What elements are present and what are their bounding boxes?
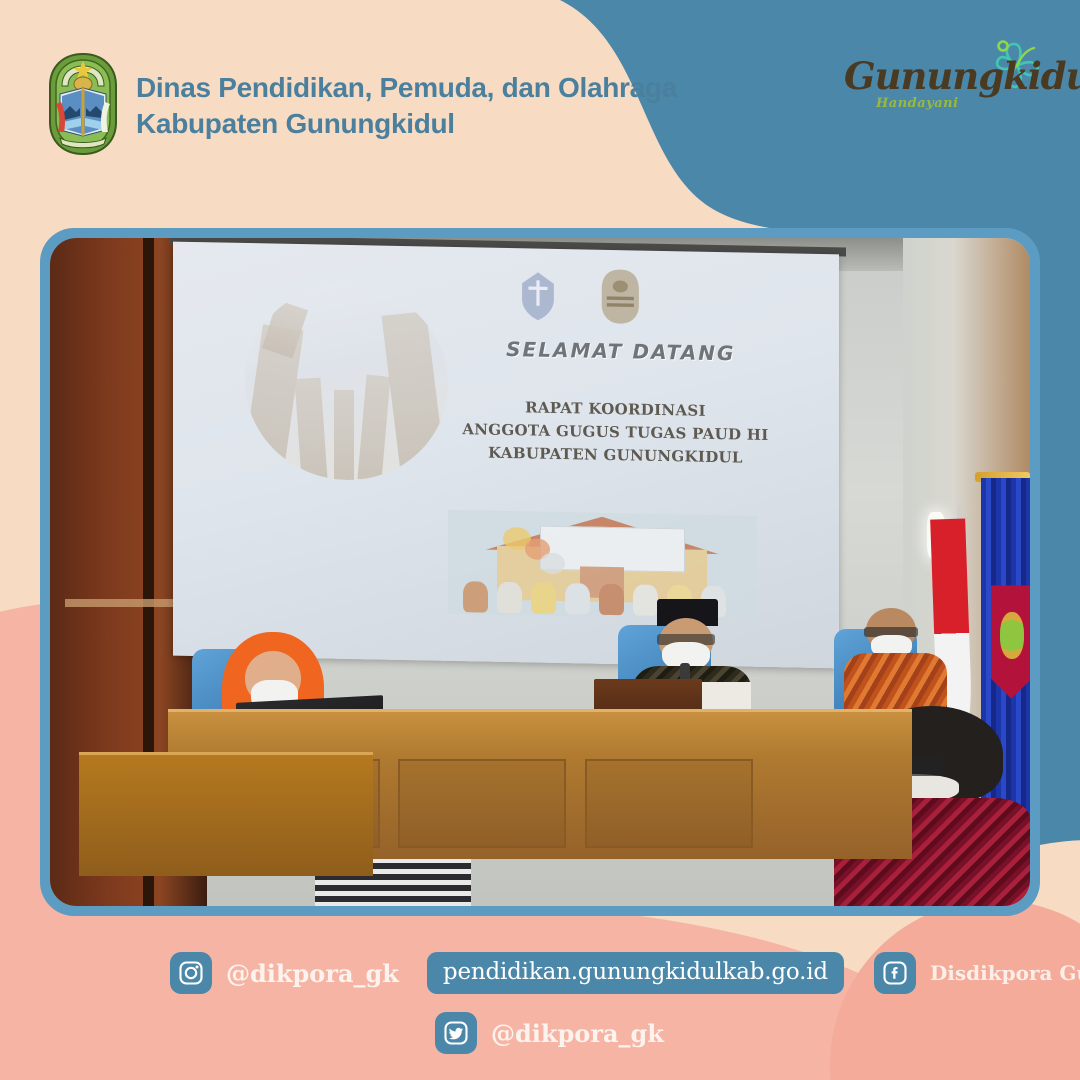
facebook-icon[interactable] [874,952,916,994]
footer-primary-row: @dikpora_gk pendidikan.gunungkidulkab.go… [170,952,1080,994]
slide-circular-photo [245,283,448,482]
website-url-pill[interactable]: pendidikan.gunungkidulkab.go.id [427,952,844,994]
meeting-room-photograph: SELAMAT DATANG RAPAT KOORDINASI ANGGOTA … [50,238,1030,906]
facebook-group: Disdikpora Gunungkidul [874,952,1080,994]
regency-logo-icon [592,265,651,325]
page-title: Dinas Pendidikan, Pemuda, dan Olahraga K… [136,70,677,142]
twitter-icon[interactable] [435,1012,477,1054]
tut-wuri-handayani-logo-icon [507,267,571,324]
twitter-handle[interactable]: @dikpora_gk [491,1019,664,1048]
brand-tagline: Handayani [876,96,959,111]
instagram-icon[interactable] [170,952,212,994]
slide-subject-text: RAPAT KOORDINASI ANGGOTA GUGUS TUGAS PAU… [453,395,778,471]
page-title-line2: Kabupaten Gunungkidul [136,106,677,142]
presentation-slide: SELAMAT DATANG RAPAT KOORDINASI ANGGOTA … [240,276,773,634]
header: Dinas Pendidikan, Pemuda, dan Olahraga K… [0,0,1080,215]
page-title-line1: Dinas Pendidikan, Pemuda, dan Olahraga [136,72,677,103]
gunungkidul-brand-logo: Gunungkidul Handayani [822,42,1052,128]
slide-welcome-text: SELAMAT DATANG [469,336,773,366]
footer-secondary-row: @dikpora_gk [435,1012,664,1054]
poster-canvas: Dinas Pendidikan, Pemuda, dan Olahraga K… [0,0,1080,1080]
side-table-left [79,752,373,875]
pennant-emblem-icon [1000,612,1025,659]
photo-frame: SELAMAT DATANG RAPAT KOORDINASI ANGGOTA … [40,228,1040,916]
slide-subject-line3: KABUPATEN GUNUNGKIDUL [453,441,778,470]
facebook-page-name[interactable]: Disdikpora Gunungkidul [930,961,1080,985]
footer-social-bar: @dikpora_gk pendidikan.gunungkidulkab.go… [0,930,1080,1080]
brand-wordmark: Gunungkidul [844,54,1080,98]
instagram-handle[interactable]: @dikpora_gk [226,959,399,988]
gunungkidul-regency-emblem-icon [46,52,120,156]
